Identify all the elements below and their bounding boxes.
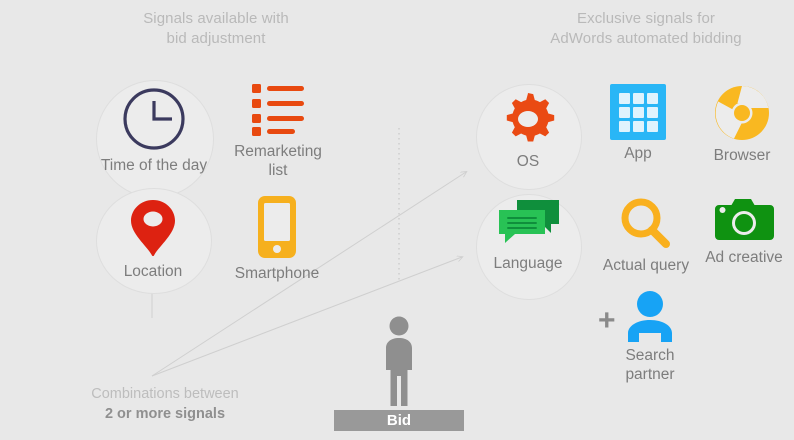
right-column-header: Exclusive signals for AdWords automated … <box>508 9 784 49</box>
signal-smartphone-label: Smartphone <box>216 264 338 283</box>
signal-remarketing-list[interactable]: Remarketing list <box>218 80 338 180</box>
map-pin-icon-wrap <box>92 196 214 258</box>
bid-bar[interactable]: Bid <box>334 410 464 431</box>
clock-icon <box>121 86 187 152</box>
signal-search-partner-label: Search partner <box>600 346 700 384</box>
gear-icon-wrap <box>470 90 586 148</box>
search-partner-label-line2: partner <box>625 366 674 383</box>
smartphone-icon-wrap <box>216 194 338 260</box>
camera-icon <box>713 196 775 244</box>
signal-remarketing-list-label: Remarketing list <box>218 142 338 180</box>
signal-time-of-day-label: Time of the day <box>88 156 220 175</box>
signal-language[interactable]: Language <box>470 198 586 273</box>
person-icon <box>621 290 679 342</box>
gear-icon <box>497 90 559 148</box>
signal-os-label: OS <box>470 152 586 171</box>
combinations-line1: Combinations between <box>40 384 290 404</box>
signal-time-of-day[interactable]: Time of the day <box>88 86 220 175</box>
app-grid-icon <box>610 84 666 140</box>
browser-icon-wrap <box>698 84 786 142</box>
right-header-line2: AdWords automated bidding <box>550 30 742 47</box>
person-silhouette-icon <box>376 316 422 408</box>
infographic-canvas: Signals available with bid adjustment Ex… <box>0 0 794 440</box>
signal-browser-label: Browser <box>698 146 786 165</box>
magnifier-icon <box>618 196 674 252</box>
signal-browser[interactable]: Browser <box>698 84 786 165</box>
signal-language-label: Language <box>470 254 586 273</box>
magnifier-icon-wrap <box>596 196 696 252</box>
search-partner-label-line1: Search <box>625 347 674 364</box>
signal-actual-query-label: Actual query <box>596 256 696 275</box>
remarketing-label-line2: list <box>269 162 288 179</box>
chat-bubbles-icon-wrap <box>470 198 586 250</box>
remarketing-label-line1: Remarketing <box>234 143 322 160</box>
browser-icon <box>713 84 771 142</box>
combinations-line2: 2 or more signals <box>40 404 290 424</box>
signal-actual-query[interactable]: Actual query <box>596 196 696 275</box>
signal-app[interactable]: App <box>596 84 680 163</box>
clock-icon-wrap <box>88 86 220 152</box>
signal-location[interactable]: Location <box>92 196 214 281</box>
smartphone-icon <box>256 194 298 260</box>
bullet-list-icon <box>250 80 306 138</box>
signal-search-partner[interactable]: Search partner <box>600 290 700 384</box>
signal-ad-creative-label: Ad creative <box>694 248 794 267</box>
right-header-line1: Exclusive signals for <box>577 10 715 27</box>
person-icon-wrap <box>600 290 700 342</box>
combinations-label: Combinations between 2 or more signals <box>40 384 290 424</box>
chat-bubbles-icon <box>495 198 561 250</box>
left-header-line2: bid adjustment <box>167 30 266 47</box>
camera-icon-wrap <box>694 196 794 244</box>
signal-location-label: Location <box>92 262 214 281</box>
signal-smartphone[interactable]: Smartphone <box>216 194 338 283</box>
signal-os[interactable]: OS <box>470 90 586 171</box>
signal-app-label: App <box>596 144 680 163</box>
bullet-list-icon-wrap <box>218 80 338 138</box>
left-column-header: Signals available with bid adjustment <box>78 9 354 49</box>
signal-ad-creative[interactable]: Ad creative <box>694 196 794 267</box>
app-grid-icon-wrap <box>596 84 680 140</box>
left-header-line1: Signals available with <box>143 10 289 27</box>
map-pin-icon <box>127 196 179 258</box>
